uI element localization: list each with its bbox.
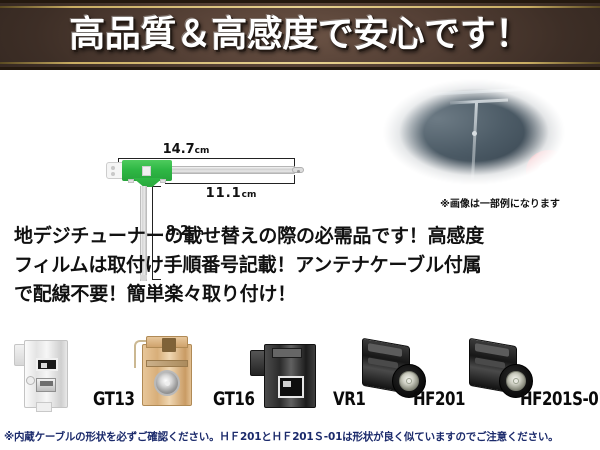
dimension-label-overall-width: 14.7cm	[163, 142, 210, 157]
product-feature-banner: 高品質＆高感度で安心です！ 14.7cm 11.1cm 8.2cm ※画像は一部	[0, 0, 600, 450]
gt13-tail	[36, 402, 52, 412]
hf201s-center-pin	[513, 378, 519, 384]
connector-image-gt16	[132, 334, 200, 412]
connector-label-hf201: HF201	[413, 388, 465, 410]
gt13-body	[24, 340, 68, 408]
footer-caution-note: ※内蔵ケーブルの形状を必ずご確認ください。ＨＦ201とＨＦ201Ｓ-01は形状が…	[4, 429, 598, 444]
gt16-band	[146, 360, 188, 367]
vr1-port	[278, 376, 304, 398]
antenna-arm	[160, 166, 295, 174]
antenna-arm-tip	[292, 167, 304, 173]
antenna-diagram: 14.7cm 11.1cm 8.2cm	[0, 70, 340, 215]
gt16-slot	[162, 338, 176, 352]
photo-vignette	[360, 72, 588, 192]
dimension-label-arm-width: 11.1cm	[206, 186, 257, 201]
connector-image-vr1	[250, 334, 326, 414]
gt13-port-upper	[36, 358, 58, 371]
description-line-2: フィルムは取付け手順番号記載！アンテナケーブル付属	[14, 251, 586, 280]
gt13-port-lower	[36, 378, 56, 392]
connector-image-gt13	[14, 332, 76, 412]
connector-type-row: GT13 GT16 VR1 HF201	[0, 330, 600, 425]
description-block: 地デジチューナーの載せ替えの際の必需品です！高感度 フィルムは取付け手順番号記載…	[14, 222, 586, 309]
gt16-coax-ring	[154, 370, 180, 396]
header-banner: 高品質＆高感度で安心です！	[0, 0, 600, 70]
antenna-tab-right	[160, 179, 166, 183]
tab-dot-upper	[111, 166, 115, 170]
windshield-photo	[360, 72, 588, 192]
tab-dot-lower	[111, 172, 115, 176]
dimension-bracket-arm-width	[165, 175, 295, 184]
antenna-tab-left	[128, 179, 134, 183]
antenna-pad-chip	[142, 166, 151, 176]
vr1-notch	[272, 348, 302, 358]
connector-label-hf201s-01: HF201S-01	[520, 388, 600, 410]
banner-title: 高品質＆高感度で安心です！	[69, 17, 531, 53]
connector-label-gt13: GT13	[93, 388, 134, 410]
description-line-3: で配線不要！簡単楽々取り付け！	[14, 280, 586, 309]
description-line-1: 地デジチューナーの載せ替えの際の必需品です！高感度	[14, 222, 586, 251]
photo-caption: ※画像は一部例になります	[440, 195, 560, 210]
gt13-knob	[26, 376, 35, 385]
connector-label-gt16: GT16	[213, 388, 254, 410]
hf201-center-pin	[406, 378, 412, 384]
